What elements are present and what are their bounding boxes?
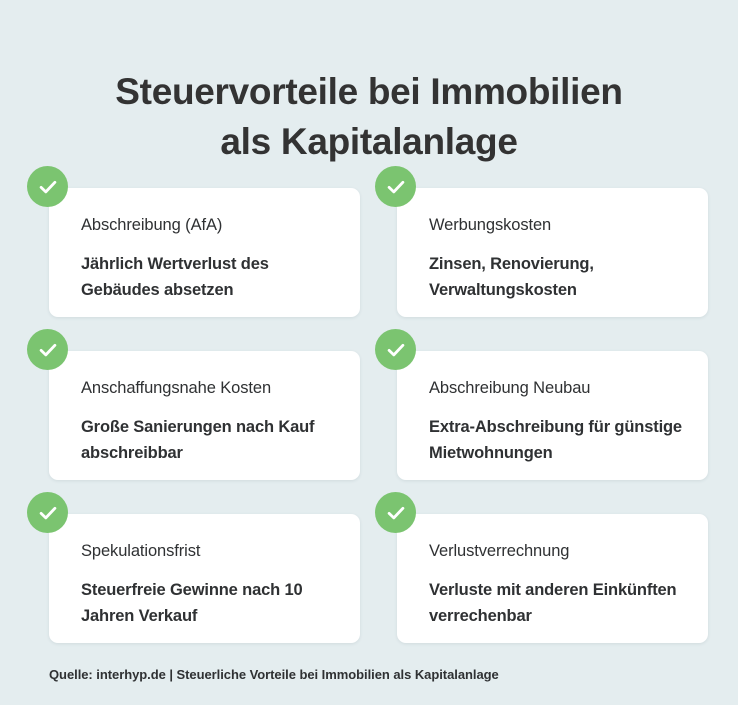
source-caption: Quelle: interhyp.de | Steuerliche Vortei… — [49, 666, 499, 684]
benefit-card: Spekulationsfrist Steuerfreie Gewinne na… — [49, 514, 360, 643]
benefit-card-description: Große Sanierungen nach Kauf abschreibbar — [81, 414, 338, 466]
benefit-card: Abschreibung Neubau Extra-Abschreibung f… — [397, 351, 708, 480]
benefit-card-description: Steuerfreie Gewinne nach 10 Jahren Verka… — [81, 577, 338, 629]
benefit-card-description: Zinsen, Renovierung, Verwaltungskosten — [429, 251, 686, 303]
benefit-card-description: Jährlich Wertverlust des Gebäudes absetz… — [81, 251, 338, 303]
benefit-card-heading: Abschreibung (AfA) — [81, 214, 338, 236]
check-circle-icon — [375, 492, 416, 533]
benefit-card: Anschaffungsnahe Kosten Große Sanierunge… — [49, 351, 360, 480]
benefit-card: Abschreibung (AfA) Jährlich Wertverlust … — [49, 188, 360, 317]
check-circle-icon — [27, 492, 68, 533]
benefit-card-grid: Abschreibung (AfA) Jährlich Wertverlust … — [49, 188, 708, 643]
benefit-card-heading: Werbungskosten — [429, 214, 686, 236]
page-title-line-2: als Kapitalanlage — [40, 117, 698, 167]
benefit-card-heading: Abschreibung Neubau — [429, 377, 686, 399]
benefit-card-description: Verluste mit anderen Einkünften verreche… — [429, 577, 686, 629]
check-circle-icon — [27, 329, 68, 370]
benefit-card: Verlustverrechnung Verluste mit anderen … — [397, 514, 708, 643]
page-title-line-1: Steuervorteile bei Immobilien — [40, 67, 698, 117]
check-circle-icon — [375, 166, 416, 207]
benefit-card-heading: Anschaffungsnahe Kosten — [81, 377, 338, 399]
page-title: Steuervorteile bei Immobilien als Kapita… — [0, 67, 738, 167]
check-circle-icon — [27, 166, 68, 207]
benefit-card: Werbungskosten Zinsen, Renovierung, Verw… — [397, 188, 708, 317]
check-circle-icon — [375, 329, 416, 370]
benefit-card-heading: Verlustverrechnung — [429, 540, 686, 562]
benefit-card-description: Extra-Abschreibung für günstige Mietwohn… — [429, 414, 686, 466]
benefit-card-heading: Spekulationsfrist — [81, 540, 338, 562]
infographic-root: Steuervorteile bei Immobilien als Kapita… — [0, 0, 738, 705]
